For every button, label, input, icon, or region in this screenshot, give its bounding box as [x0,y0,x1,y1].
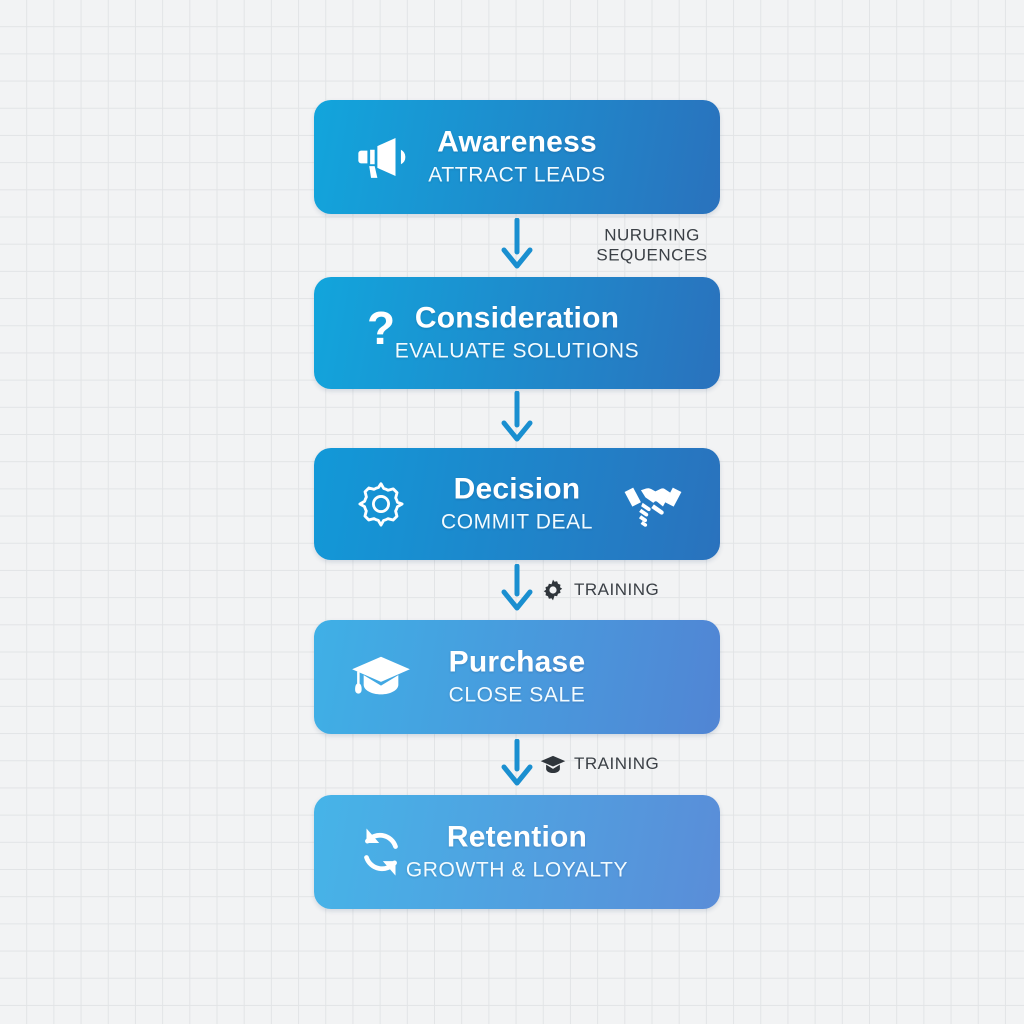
connector-label: TRAINING [540,752,659,778]
stage-labels: Consideration EVALUATE SOLUTIONS [314,302,720,365]
stage-subtitle: CLOSE SALE [332,682,702,708]
stage-title: Decision [332,473,702,507]
graduation-cap-icon [540,752,566,778]
connector-purchase-to-retention: TRAINING [314,734,720,795]
stage-card-consideration[interactable]: ? Consideration EVALUATE SOLUTIONS [314,277,720,389]
stage-subtitle: ATTRACT LEADS [332,162,702,188]
arrow-down-icon [500,564,534,616]
connector-consideration-to-decision [314,389,720,448]
stage-labels: Decision COMMIT DEAL [314,473,720,536]
stage-labels: Awareness ATTRACT LEADS [314,126,720,189]
stage-title: Awareness [332,126,702,160]
stage-card-decision[interactable]: Decision COMMIT DEAL [314,448,720,560]
stage-inner: Awareness ATTRACT LEADS [314,100,720,214]
stage-inner: Decision COMMIT DEAL [314,448,720,560]
stage-subtitle: COMMIT DEAL [332,509,702,535]
stage-inner: Purchase CLOSE SALE [314,620,720,734]
arrow-down-icon [500,218,534,274]
connector-label: NURURINGSEQUENCES [572,225,732,266]
gear-icon [540,577,566,603]
connector-awareness-to-consideration: NURURINGSEQUENCES [314,214,720,277]
arrow-down-icon [500,391,534,447]
stage-subtitle: GROWTH & LOYALTY [332,857,702,883]
stage-labels: Retention GROWTH & LOYALTY [314,821,720,884]
stage-subtitle: EVALUATE SOLUTIONS [332,338,702,364]
stage-card-purchase[interactable]: Purchase CLOSE SALE [314,620,720,734]
arrow-down-icon [500,739,534,791]
stage-card-awareness[interactable]: Awareness ATTRACT LEADS [314,100,720,214]
stage-card-retention[interactable]: Retention GROWTH & LOYALTY [314,795,720,909]
stage-title: Consideration [332,302,702,336]
connector-label: TRAINING [540,577,659,603]
stage-title: Purchase [332,646,702,680]
diagram-canvas: Awareness ATTRACT LEADS NURURINGSEQUENCE… [0,0,1024,1024]
funnel-flow: Awareness ATTRACT LEADS NURURINGSEQUENCE… [314,100,720,909]
stage-inner: ? Consideration EVALUATE SOLUTIONS [314,277,720,389]
connector-label-text: TRAINING [574,580,659,601]
connector-label-text: TRAINING [574,754,659,775]
connector-label-text: NURURINGSEQUENCES [572,225,732,266]
stage-labels: Purchase CLOSE SALE [314,646,720,709]
connector-decision-to-purchase: TRAINING [314,560,720,620]
stage-title: Retention [332,821,702,855]
stage-inner: Retention GROWTH & LOYALTY [314,795,720,909]
